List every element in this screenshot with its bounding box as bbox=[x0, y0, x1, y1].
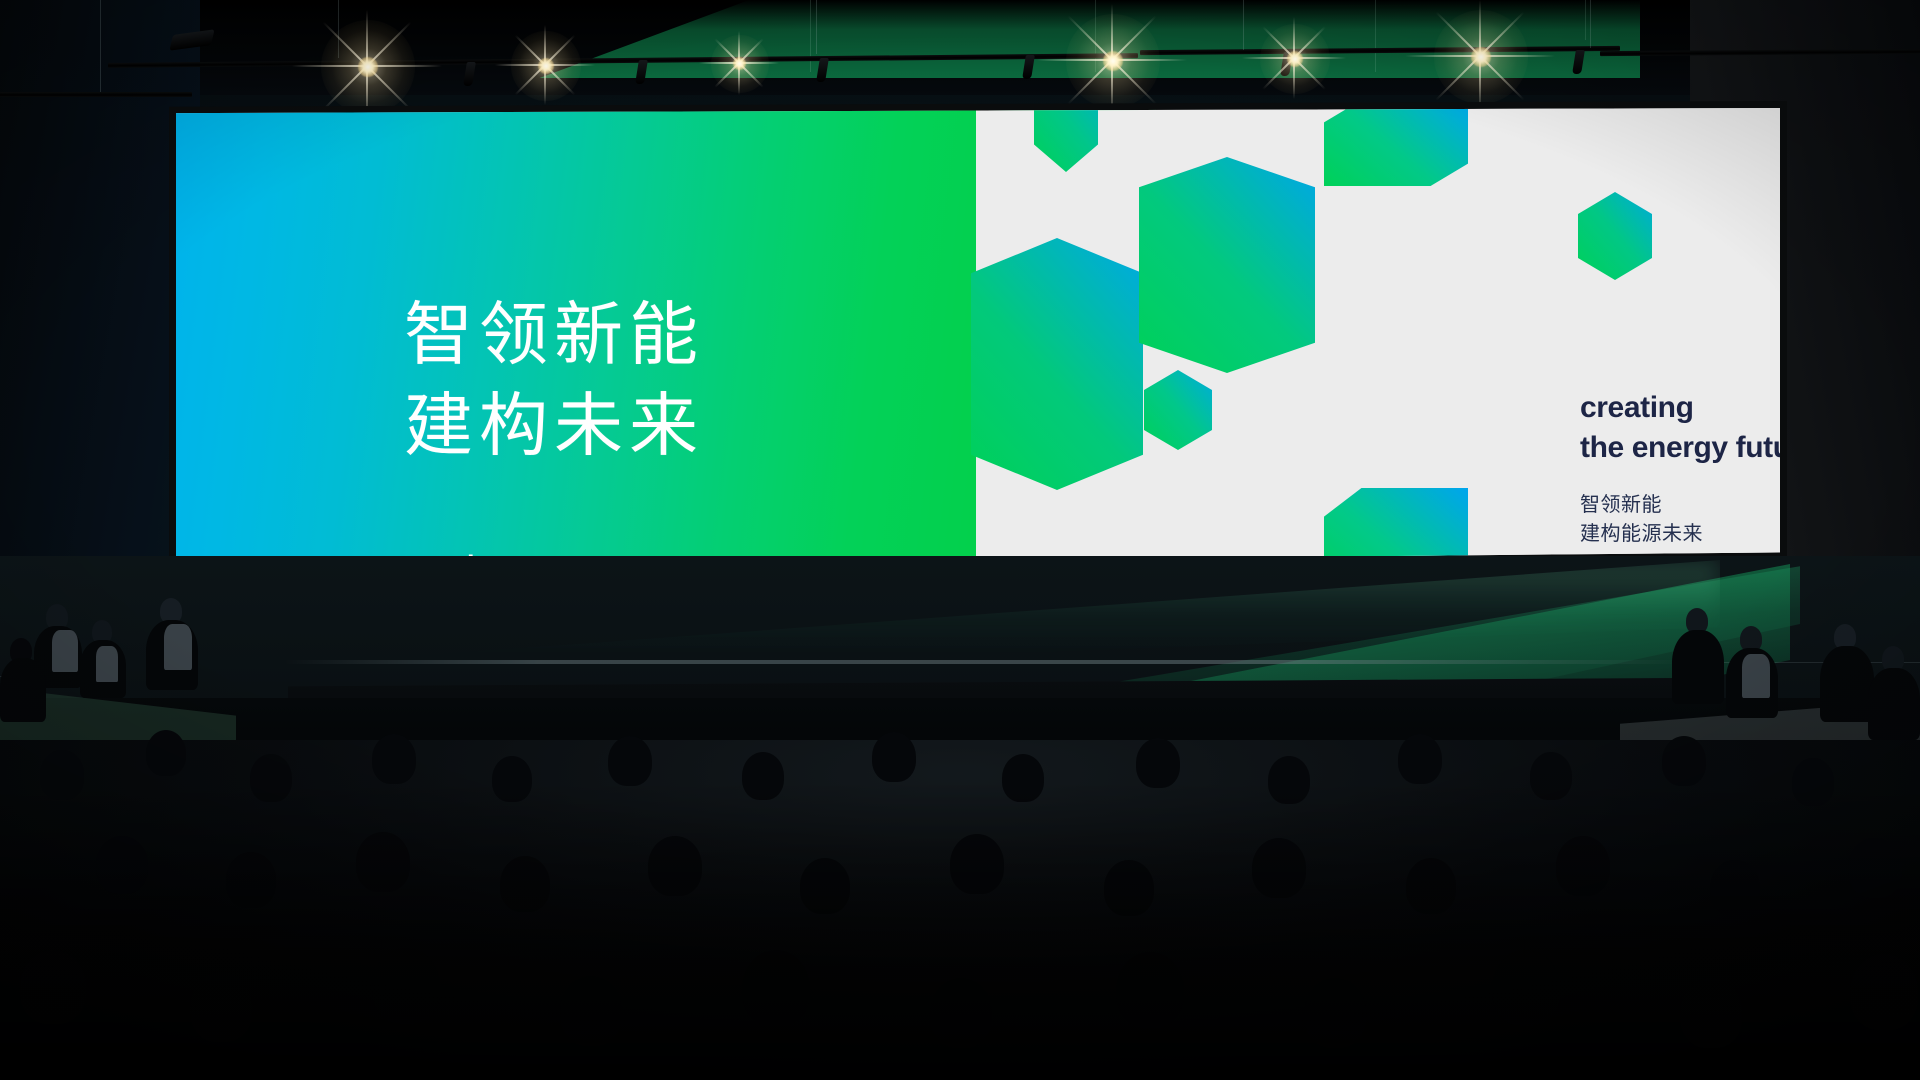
audience-member-shirt bbox=[96, 646, 118, 682]
audience-member bbox=[372, 734, 416, 784]
lighting-truss-rail bbox=[0, 92, 192, 97]
subtitle-chinese-right: 智领新能 建构能源未来 bbox=[1580, 490, 1780, 548]
audience-seating-area bbox=[0, 740, 1920, 1080]
audience-member bbox=[1672, 630, 1724, 704]
stage-front-edge bbox=[285, 660, 1685, 664]
subtitle-chinese-right-line-2: 建构能源未来 bbox=[1580, 519, 1780, 548]
audience-member bbox=[1848, 838, 1902, 898]
audience-member bbox=[1268, 756, 1310, 804]
headline-chinese: 智领新能 建构未来 bbox=[404, 290, 704, 472]
truss-drop-wire bbox=[816, 0, 817, 54]
screen-surface: 智领新能 建构未来 creating the energy future cre… bbox=[176, 108, 1780, 570]
truss-drop-wire bbox=[1243, 0, 1244, 50]
audience-member bbox=[1002, 754, 1044, 802]
audience-member-shirt bbox=[52, 630, 78, 672]
audience-member bbox=[1850, 954, 1918, 1030]
ceiling-seam bbox=[1375, 0, 1376, 72]
truss-drop-wire bbox=[1590, 0, 1591, 48]
spotlight-beam bbox=[739, 63, 741, 65]
audience-member bbox=[372, 948, 440, 1024]
audience-member bbox=[560, 976, 622, 1046]
audience-member bbox=[20, 950, 86, 1024]
audience-member bbox=[1710, 860, 1760, 916]
audience-member bbox=[492, 756, 532, 802]
audience-member bbox=[742, 752, 784, 800]
hexagon-shape bbox=[1578, 192, 1652, 280]
audience-member bbox=[950, 834, 1004, 894]
audience-member bbox=[930, 978, 992, 1048]
audience-member bbox=[1792, 758, 1834, 806]
spotlight-beam bbox=[1294, 58, 1296, 60]
spotlight-beam bbox=[545, 65, 547, 67]
audience-member bbox=[1136, 738, 1180, 788]
audience-member-shirt bbox=[1742, 654, 1770, 698]
audience-member bbox=[1820, 646, 1874, 722]
audience-member bbox=[356, 832, 410, 892]
spotlight-beam bbox=[367, 66, 369, 68]
audience-member bbox=[800, 858, 850, 914]
audience-member bbox=[146, 730, 186, 776]
tagline-block-right: creating the energy future 智领新能 建构能源未来 bbox=[1580, 388, 1780, 548]
audience-member bbox=[1530, 752, 1572, 800]
hexagon-shape bbox=[1034, 108, 1098, 172]
audience-member bbox=[190, 972, 252, 1042]
tagline-english-right: creating the energy future bbox=[1580, 388, 1780, 468]
audience-member bbox=[1868, 668, 1920, 740]
hexagon-shape bbox=[1144, 370, 1212, 450]
audience-member bbox=[0, 658, 46, 722]
audience-member bbox=[742, 950, 810, 1026]
stage-scene: 智领新能 建构未来 creating the energy future cre… bbox=[0, 0, 1920, 1080]
audience-member bbox=[1406, 858, 1456, 914]
tagline-english-right-line-2: the energy future bbox=[1580, 428, 1780, 468]
headline-chinese-line-1: 智领新能 bbox=[404, 290, 704, 381]
audience-member bbox=[1556, 836, 1610, 896]
audience-member bbox=[872, 732, 916, 782]
spotlight-beam bbox=[1480, 56, 1482, 58]
hexagon-shape bbox=[971, 238, 1143, 490]
audience-member bbox=[1252, 838, 1306, 898]
audience-member bbox=[40, 750, 84, 800]
audience-member bbox=[1116, 952, 1184, 1028]
audience-member bbox=[500, 856, 550, 912]
ceiling-seam bbox=[1585, 0, 1586, 40]
audience-member bbox=[648, 836, 702, 896]
truss-drop-wire bbox=[100, 0, 101, 92]
audience-member bbox=[1104, 860, 1154, 916]
headline-chinese-line-2: 建构未来 bbox=[404, 381, 704, 472]
audience-member bbox=[96, 836, 148, 894]
audience-member bbox=[1492, 950, 1560, 1026]
audience-member bbox=[1304, 978, 1366, 1048]
tagline-english-right-line-1: creating bbox=[1580, 388, 1780, 428]
audience-member bbox=[1662, 736, 1706, 786]
hexagon-shape bbox=[1139, 157, 1315, 373]
spotlight-beam bbox=[1112, 60, 1114, 62]
audience-member bbox=[608, 736, 652, 786]
audience-member bbox=[1680, 978, 1742, 1048]
audience-member bbox=[1398, 734, 1442, 784]
audience-member bbox=[250, 754, 292, 802]
subtitle-chinese-right-line-1: 智领新能 bbox=[1580, 490, 1780, 519]
led-video-wall: 智领新能 建构未来 creating the energy future cre… bbox=[176, 108, 1780, 570]
audience-member-shirt bbox=[164, 624, 192, 670]
audience-member bbox=[226, 852, 276, 908]
hexagon-shape bbox=[1324, 108, 1468, 186]
